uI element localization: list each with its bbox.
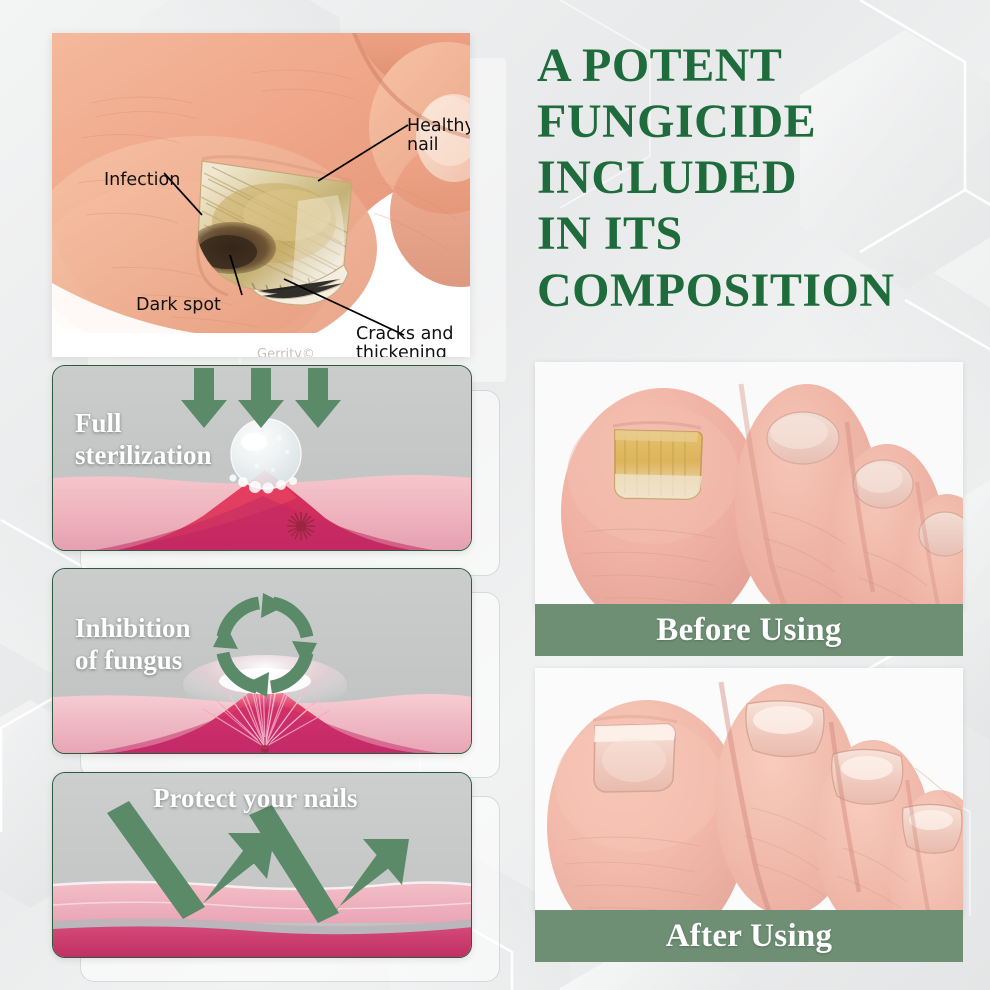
nail-anatomy-card: Healthy nail Infection Dark spot Cracks … xyxy=(52,33,470,357)
fungus-spore-icon xyxy=(287,512,315,540)
feature-panel-protect-your-nails: Protect your nails xyxy=(52,772,472,958)
panel-title-protect-your-nails: Protect your nails xyxy=(153,783,357,815)
watermark: Gerrity© xyxy=(257,347,315,357)
anatomy-label-cracks-and-thickening: Cracks and thickening xyxy=(356,305,454,357)
after-caption-text: After Using xyxy=(666,918,833,955)
headline-line-2: FUNGICIDE xyxy=(537,94,957,150)
after-photo xyxy=(535,668,963,916)
after-caption-bar: After Using xyxy=(535,910,963,962)
feature-panel-inhibition-of-fungus: Inhibition of fungus xyxy=(52,568,472,754)
panel-title-full-sterilization: Full sterilization xyxy=(75,408,211,471)
feature-panel-full-sterilization: Full sterilization xyxy=(52,365,472,551)
anatomy-label-dark-spot: Dark spot xyxy=(136,276,221,315)
before-photo xyxy=(535,362,963,610)
anatomy-label-infection: Infection xyxy=(104,151,180,190)
headline-line-5: COMPOSITION xyxy=(537,263,957,319)
before-foot-photo-illustration xyxy=(535,362,963,610)
panel-title-inhibition-of-fungus: Inhibition of fungus xyxy=(75,613,191,676)
headline-line-3: INCLUDED xyxy=(537,150,957,206)
headline-line-1: A POTENT xyxy=(537,38,957,94)
headline: A POTENT FUNGICIDE INCLUDED IN ITS COMPO… xyxy=(537,38,957,319)
headline-line-4: IN ITS xyxy=(537,206,957,262)
before-caption-bar: Before Using xyxy=(535,604,963,656)
before-caption-text: Before Using xyxy=(656,612,841,649)
after-foot-photo-illustration xyxy=(535,668,963,916)
anatomy-label-healthy-nail: Healthy nail xyxy=(407,97,470,156)
